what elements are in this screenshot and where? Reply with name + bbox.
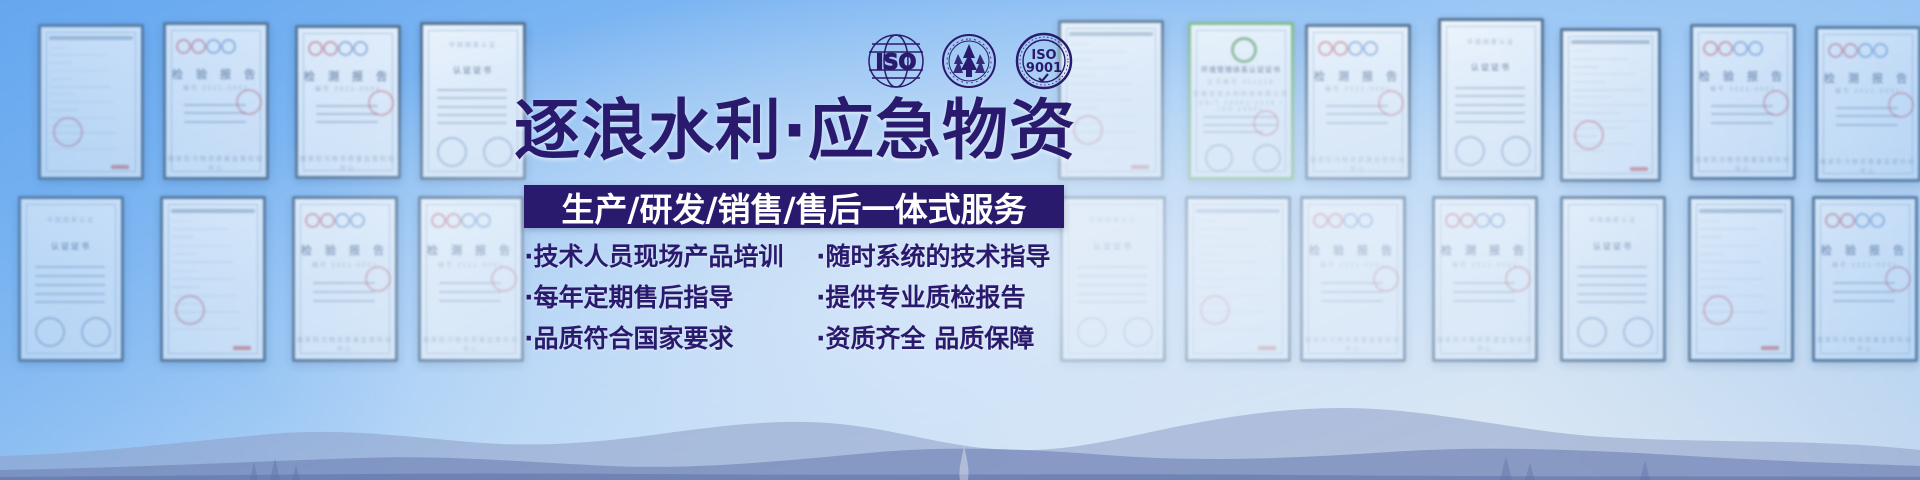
certificate-thumbnail: 检 测 报 告编号 2021-0001国家防汛物资质量监督检验中心 xyxy=(295,25,401,179)
certificate-thumbnail: 环境管理体系认证证书证书编号 00121E安徽逐浪水利科技有限公司GB/T 24… xyxy=(1188,22,1294,180)
feature-item: ·随时系统的技术指导 xyxy=(816,243,1051,270)
feature-item: ·每年定期售后指导 xyxy=(524,284,816,311)
certificate-thumbnail xyxy=(1560,28,1661,182)
certification-badges: ISO ISO 9001 xyxy=(865,32,1075,90)
subtitle-band: 生产/研发/销售/售后一体式服务 xyxy=(524,185,1064,228)
feature-row: ·每年定期售后指导 ·提供专业质检报告 xyxy=(524,284,1072,311)
feature-item: ·技术人员现场产品培训 xyxy=(524,243,816,270)
iso-9001-seal-badge: ISO 9001 xyxy=(1015,32,1073,90)
promo-banner: 检 验 报 告编号 2021-0001国家防汛物资质量监督检验中心检 测 报 告… xyxy=(0,0,1920,480)
certificate-thumbnail: 检 验 报 告编号 2021-0001国家防汛物资质量监督检验中心 xyxy=(163,22,269,180)
svg-text:ISO: ISO xyxy=(876,50,917,74)
feature-item: ·提供专业质检报告 xyxy=(816,284,1026,311)
certificate-thumbnail: 检 测 报 告编号 2021-0001国家防汛物资质量监督检验中心 xyxy=(1815,26,1920,182)
headline-block: 逐浪水利·应急物资 xyxy=(505,98,1085,164)
certificate-thumbnail xyxy=(38,24,144,180)
feature-row: ·品质符合国家要求 ·资质齐全 品质保障 xyxy=(524,325,1072,352)
feature-item: ·品质符合国家要求 xyxy=(524,325,816,352)
page-title: 逐浪水利·应急物资 xyxy=(505,98,1085,164)
subtitle-text: 生产/研发/销售/售后一体式服务 xyxy=(561,183,1026,231)
svg-text:9001: 9001 xyxy=(1026,61,1062,76)
certificate-thumbnail: 中国国家认证认证证书 xyxy=(1438,18,1544,180)
feature-row: ·技术人员现场产品培训 ·随时系统的技术指导 xyxy=(524,243,1072,270)
iso-globe-badge: ISO xyxy=(865,32,927,90)
certificate-thumbnail: 检 测 报 告编号 2021-0001国家防汛物资质量监督检验中心 xyxy=(1305,24,1411,180)
feature-list: ·技术人员现场产品培训 ·随时系统的技术指导 ·每年定期售后指导 ·提供专业质检… xyxy=(524,243,1072,366)
iso-14000-environment-badge xyxy=(941,32,997,90)
certificate-thumbnail: 检 验 报 告编号 2021-0001国家防汛物资质量监督检验中心 xyxy=(1690,24,1796,180)
feature-item: ·资质齐全 品质保障 xyxy=(816,325,1034,352)
